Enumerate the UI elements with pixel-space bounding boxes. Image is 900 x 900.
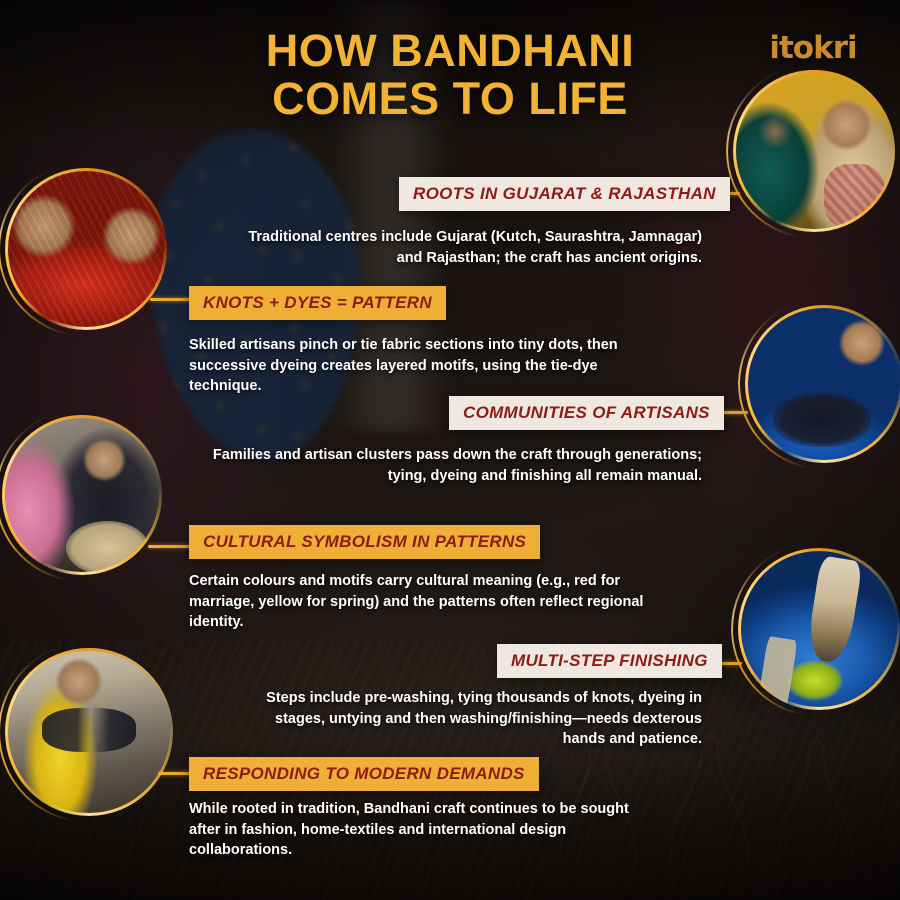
infographic-canvas: HOW BANDHANI COMES TO LIFE itokri ROOTS … xyxy=(0,0,900,900)
section-heading-multi-step-finishing[interactable]: MULTI-STEP FINISHING xyxy=(497,644,722,678)
connector-line-2 xyxy=(150,298,190,301)
photo-image xyxy=(733,70,895,232)
photo-image xyxy=(2,415,162,575)
photo-hands-tying-red-fabric xyxy=(5,168,167,330)
photo-fabric-dipped-in-blue-dye-vat xyxy=(738,548,900,710)
brand-logo[interactable]: itokri xyxy=(754,26,872,70)
photo-dyer-at-blue-vat xyxy=(745,305,900,463)
connector-line-4 xyxy=(148,545,190,548)
photo-woman-artisans-tying-knots xyxy=(733,70,895,232)
section-heading-knots-dyes[interactable]: KNOTS + DYES = PATTERN xyxy=(189,286,446,320)
section-heading-roots[interactable]: ROOTS IN GUJARAT & RAJASTHAN xyxy=(399,177,730,211)
photo-image xyxy=(5,168,167,330)
section-body-knots-dyes: Skilled artisans pinch or tie fabric sec… xyxy=(189,335,669,397)
dye-splash xyxy=(787,661,842,700)
section-heading-communities[interactable]: COMMUNITIES OF ARTISANS xyxy=(449,396,724,430)
section-body-cultural-symbolism: Certain colours and motifs carry cultura… xyxy=(189,571,659,633)
section-heading-cultural-symbolism[interactable]: CULTURAL SYMBOLISM IN PATTERNS xyxy=(189,525,540,559)
section-body-communities: Families and artisan clusters pass down … xyxy=(205,445,702,486)
photo-image xyxy=(5,648,173,816)
page-title-line-1: HOW BANDHANI xyxy=(266,25,634,76)
section-body-modern-demands: While rooted in tradition, Bandhani craf… xyxy=(189,799,659,861)
section-body-roots: Traditional centres include Gujarat (Kut… xyxy=(240,227,702,268)
section-heading-modern-demands[interactable]: RESPONDING TO MODERN DEMANDS xyxy=(189,757,539,791)
photo-women-tying-fabric-bundles xyxy=(2,415,162,575)
section-body-multi-step-finishing: Steps include pre-washing, tying thousan… xyxy=(262,688,702,750)
photo-image xyxy=(745,305,900,463)
photo-image xyxy=(738,548,900,710)
brand-logo-text: itokri xyxy=(769,33,856,64)
photo-artisan-lifting-yellow-dyed-cloth xyxy=(5,648,173,816)
